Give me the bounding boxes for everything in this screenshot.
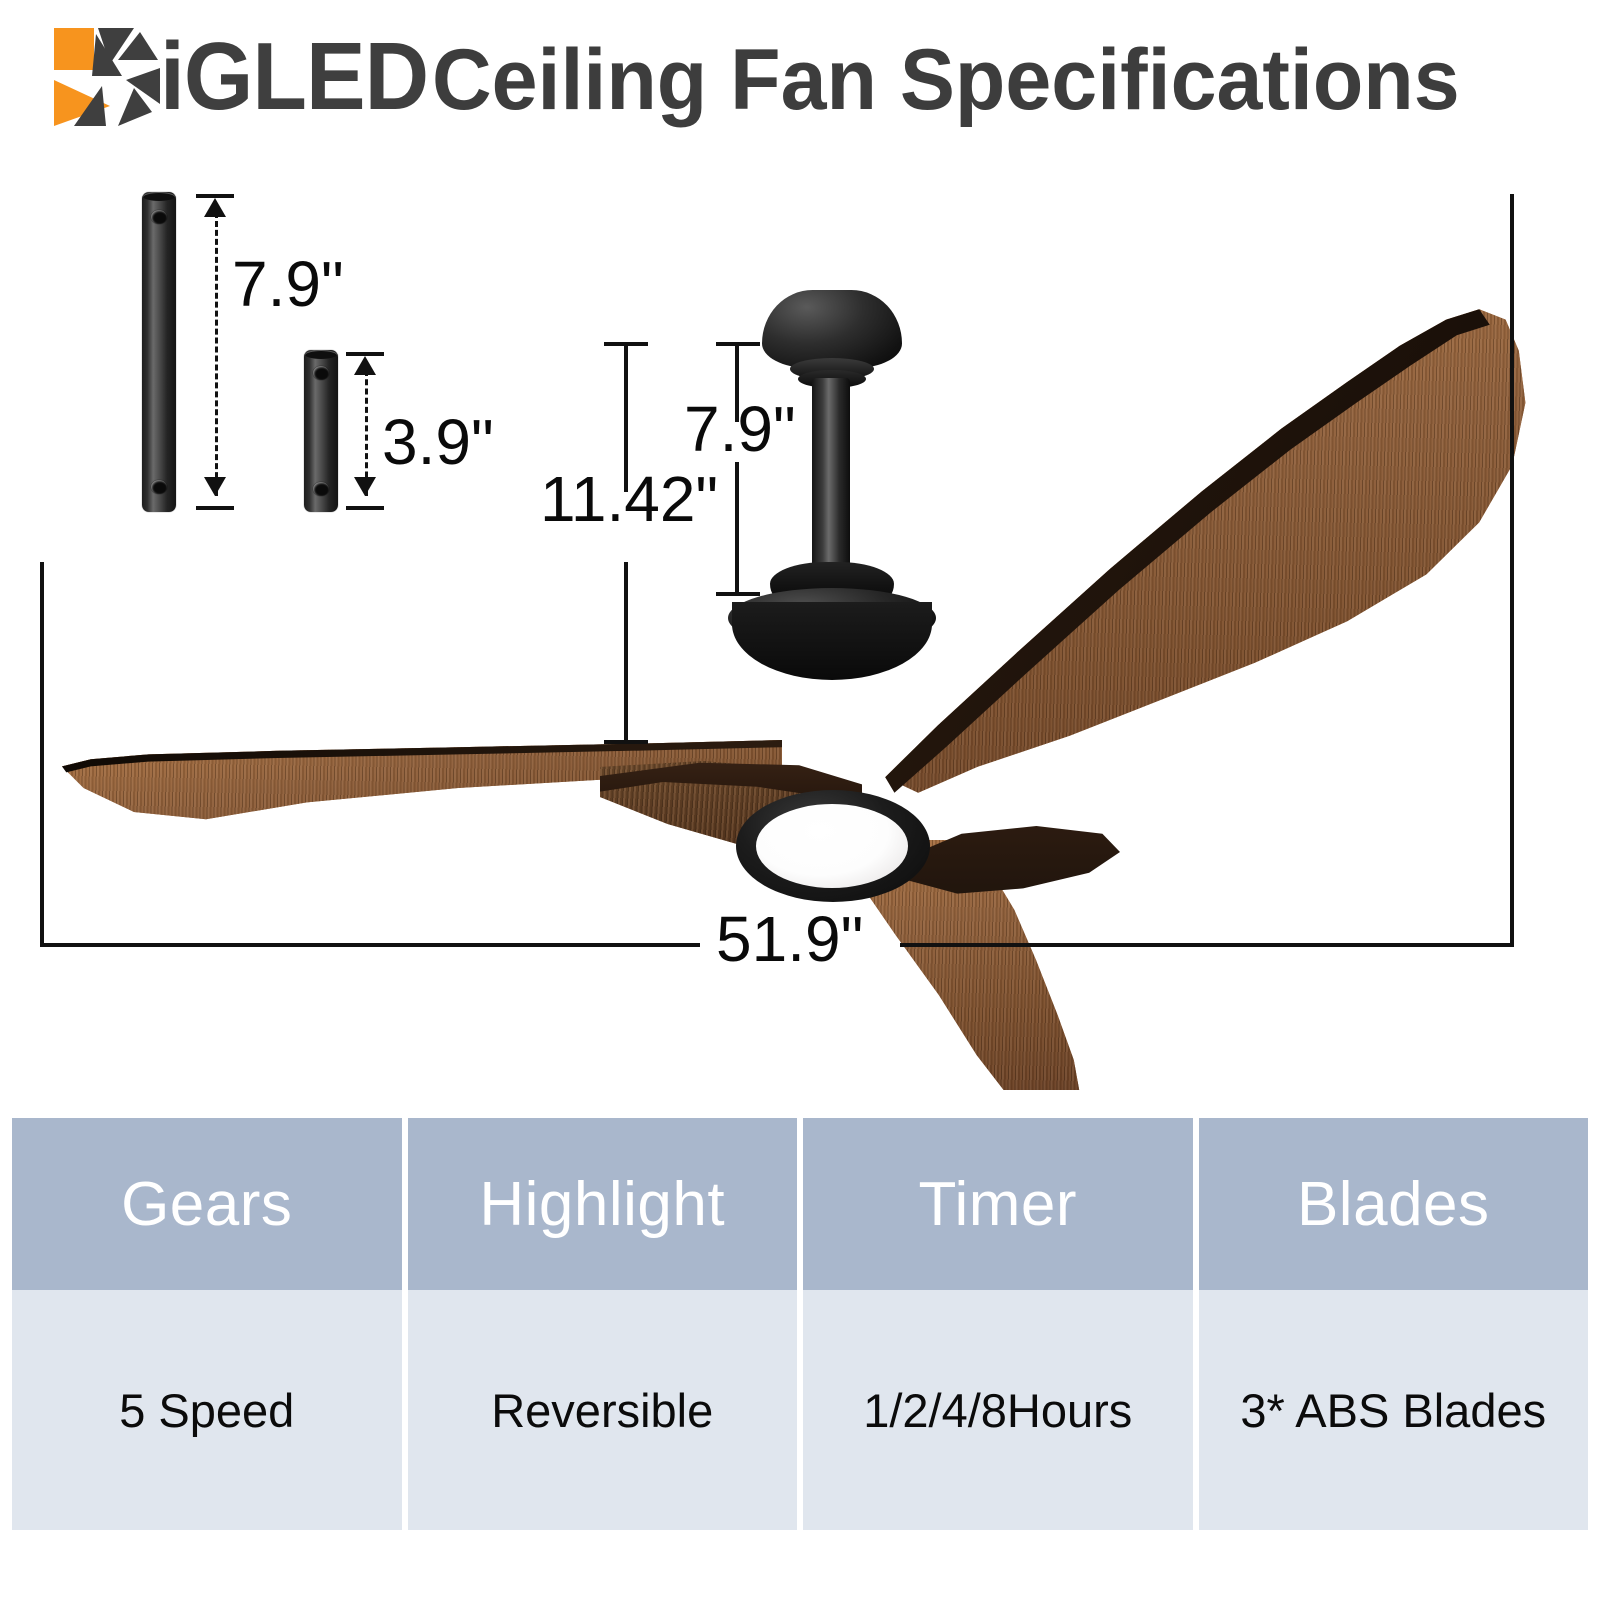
fan-dimension-diagram: 7.9" 3.9" [0,150,1600,1080]
table-cell-timer: 1/2/4/8Hours [803,1290,1193,1530]
table-cell-gears: 5 Speed [12,1290,402,1530]
span-extension-left [40,562,44,946]
aperture-logo-icon [48,24,166,130]
span-dim-line-right [900,943,1514,947]
ceiling-canopy [762,290,902,368]
led-light-lens [756,804,908,888]
canopy-dim-label: 7.9" [684,392,796,466]
total-height-dim-label: 11.42" [540,462,718,536]
fan-downrod [812,378,850,578]
brand-wordmark-text: iGLED [160,23,428,130]
total-height-dim-line-lower [624,562,628,744]
table-header-blades: Blades [1199,1118,1589,1290]
span-dim-line-left [40,943,700,947]
table-cell-highlight: Reversible [408,1290,798,1530]
page-title: Ceiling Fan Specifications [432,30,1460,130]
span-dim-label: 51.9" [716,902,863,976]
table-header-timer: Timer [803,1118,1193,1290]
canopy-dim-line-lower [735,462,739,594]
brand-wordmark: iGLED [160,25,428,129]
product-spec-page: iGLED Ceiling Fan Specifications 7.9" 3.… [0,0,1600,1600]
canopy-dim-cap-bottom [716,592,760,596]
specifications-table: Gears Highlight Timer Blades 5 Speed Rev… [12,1118,1588,1530]
motor-body [732,602,932,680]
span-extension-right [1510,194,1514,946]
total-height-dim-cap-bottom [604,740,648,744]
table-header-highlight: Highlight [408,1118,798,1290]
table-cell-blades: 3* ABS Blades [1199,1290,1589,1530]
table-header-gears: Gears [12,1118,402,1290]
page-header: iGLED Ceiling Fan Specifications [0,0,1600,150]
